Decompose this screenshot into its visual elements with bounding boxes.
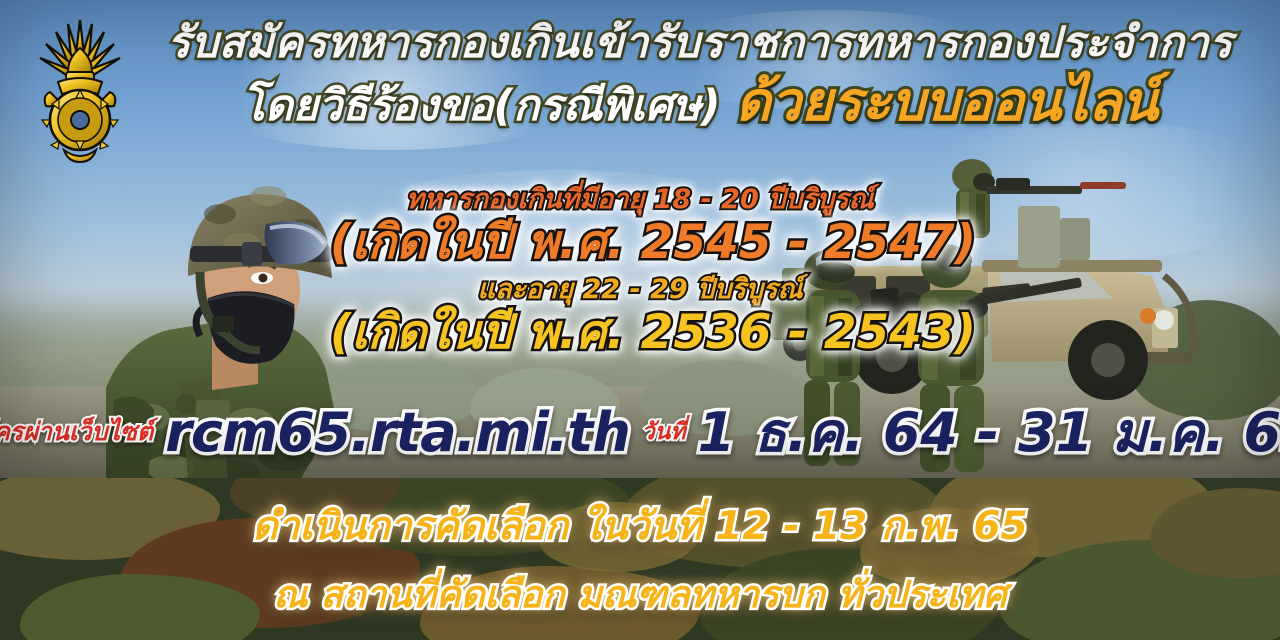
photo-scene: รับสมัครทหารกองเกินเข้ารับราชการทหารกองป… xyxy=(0,0,1280,478)
headline-line-2: โดยวิธีร้องขอ(กรณีพิเศษ) ด้วยระบบออนไลน์ xyxy=(138,75,1262,129)
age-line-2-birth-years: (เกิดในปี พ.ศ. 2545 - 2547) xyxy=(330,218,950,267)
age-line-4-birth-years: (เกิดในปี พ.ศ. 2536 - 2543) xyxy=(330,308,950,357)
headline-line-1: รับสมัครทหารกองเกินเข้ารับราชการทหารกองป… xyxy=(138,22,1262,65)
age-requirement-block: ทหารกองเกินที่มีอายุ 18 - 20 ปีบริบูรณ์ … xyxy=(330,186,950,357)
footer-text-block: ดำเนินการคัดเลือก ในวันที่ 12 - 13 ก.พ. … xyxy=(0,478,1280,640)
website-and-date-band: สมัครผ่านเว็บไซต์ rcm65.rta.mi.th วันที่… xyxy=(0,398,1280,466)
apply-via-website-label: สมัครผ่านเว็บไซต์ xyxy=(0,412,153,452)
age-line-3: และอายุ 22 - 29 ปีบริบูรณ์ xyxy=(330,276,950,304)
date-label: วันที่ xyxy=(642,414,686,450)
headline-line-2-part-1: โดยวิธีร้องขอ(กรณีพิเศษ) xyxy=(242,81,721,131)
headline-line-2-part-2: ด้วยระบบออนไลน์ xyxy=(736,70,1159,133)
age-line-1: ทหารกองเกินที่มีอายุ 18 - 20 ปีบริบูรณ์ xyxy=(330,186,950,214)
selection-date-line: ดำเนินการคัดเลือก ในวันที่ 12 - 13 ก.พ. … xyxy=(252,495,1027,557)
camouflage-footer: ดำเนินการคัดเลือก ในวันที่ 12 - 13 ก.พ. … xyxy=(0,478,1280,640)
recruitment-banner: รับสมัครทหารกองเกินเข้ารับราชการทหารกองป… xyxy=(0,0,1280,640)
headline-block: รับสมัครทหารกองเกินเข้ารับราชการทหารกองป… xyxy=(138,22,1262,129)
selection-location-line: ณ สถานที่คัดเลือก มณฑลทหารบก ทั่วประเทศ xyxy=(273,565,1006,624)
application-date-range: 1 ธ.ค. 64 - 31 ม.ค. 65 xyxy=(698,389,1280,475)
website-url[interactable]: rcm65.rta.mi.th xyxy=(165,401,630,464)
royal-thai-army-emblem xyxy=(28,14,132,164)
